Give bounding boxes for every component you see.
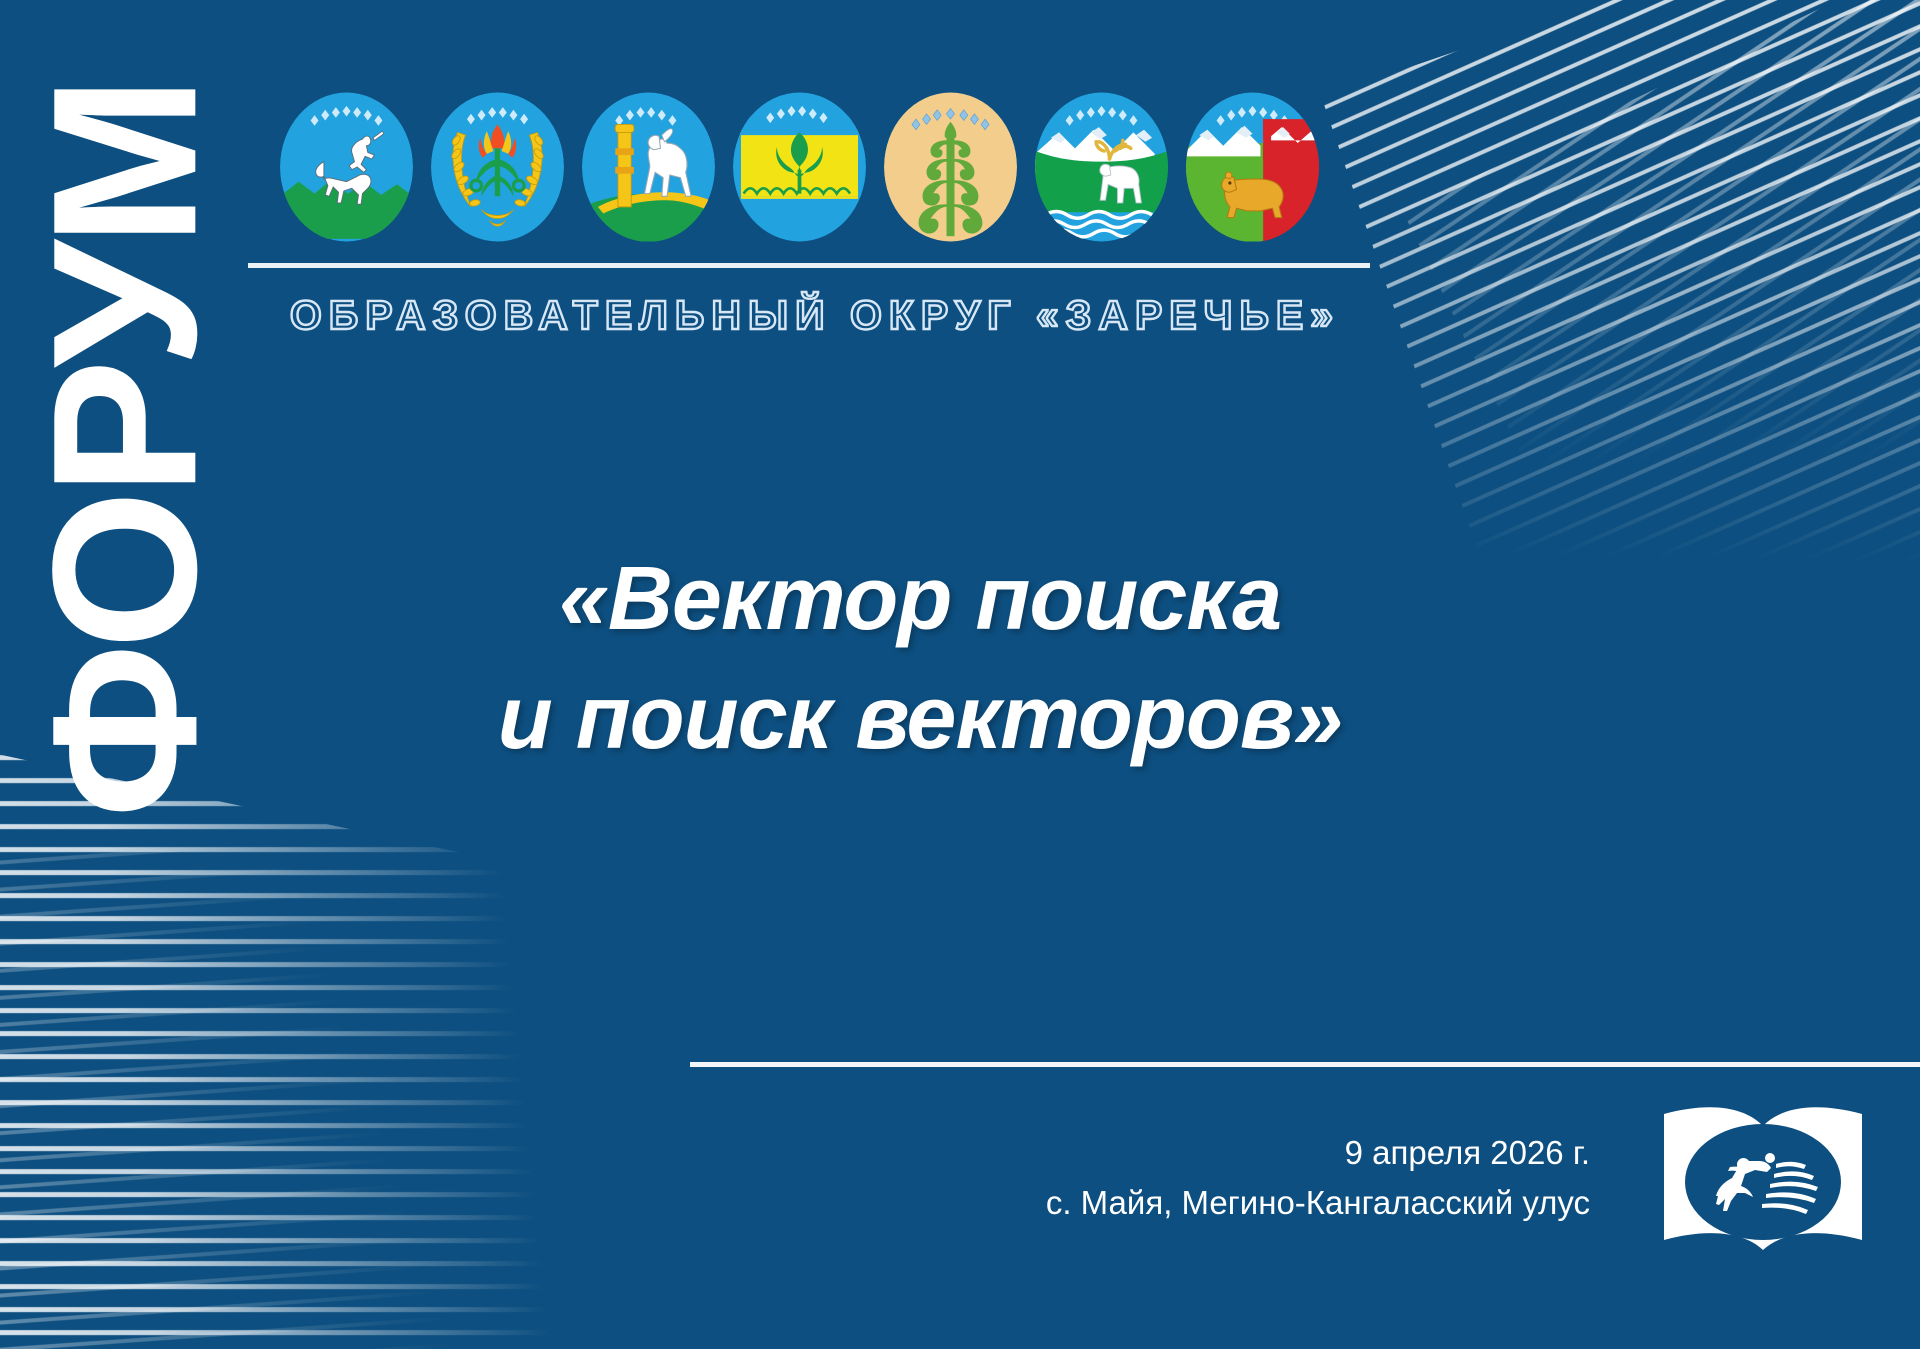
emblem-horse-serge: [582, 92, 715, 242]
district-caption: ОБРАЗОВАТЕЛЬНЫЙ ОКРУГ «ЗАРЕЧЬЕ»: [250, 292, 1380, 339]
open-book-horse-logo: [1658, 1092, 1868, 1264]
forum-wordmark: ФОРУМ: [0, 50, 250, 850]
footer-divider: [690, 1062, 1920, 1067]
page-title-line-1: «Вектор поиска: [559, 549, 1281, 649]
emblem-strip: [280, 92, 1319, 242]
diagonal-lines-bottom-left-2: [0, 830, 657, 1349]
event-meta: 9 апреля 2026 г. с. Майя, Мегино-Кангала…: [1046, 1128, 1590, 1227]
event-date: 9 апреля 2026 г.: [1046, 1128, 1590, 1178]
emblem-strip-divider: [248, 263, 1370, 268]
emblem-reindeer: [1035, 92, 1168, 242]
emblem-rider-on-horse: [280, 92, 413, 242]
page-title-line-2: и поиск векторов»: [260, 659, 1580, 778]
forum-wordmark-text: ФОРУМ: [41, 82, 209, 819]
event-place: с. Майя, Мегино-Кангаласский улус: [1046, 1178, 1590, 1228]
slide-canvas: ФОРУМ: [0, 0, 1920, 1349]
emblem-ornament-tree: [884, 92, 1017, 242]
page-title: «Вектор поиска и поиск векторов»: [260, 540, 1580, 778]
emblem-three-leaves: [733, 92, 866, 242]
emblem-bear: [1186, 92, 1319, 242]
emblem-lily-wreath: [431, 92, 564, 242]
